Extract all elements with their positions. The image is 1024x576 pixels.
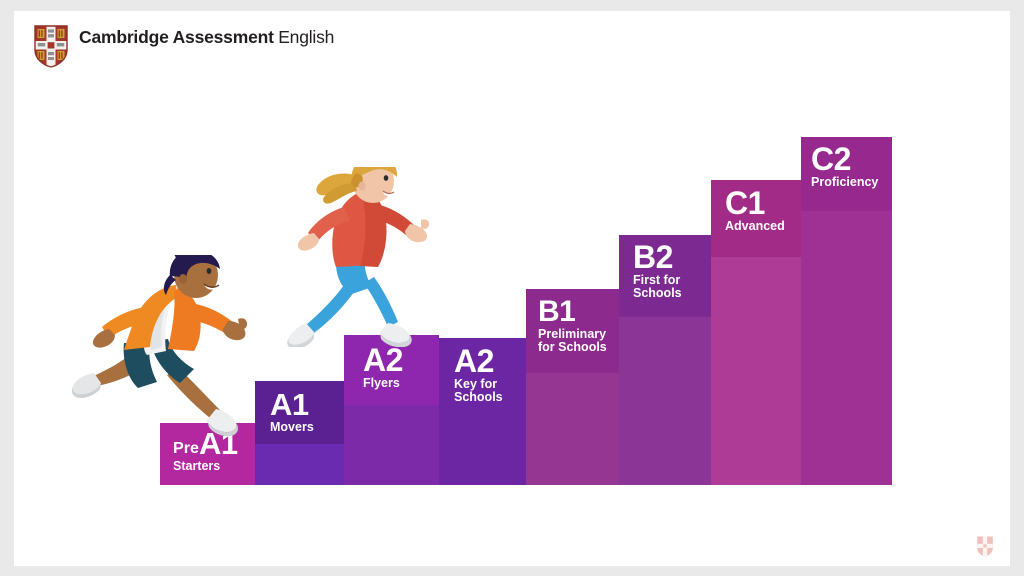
- level-name-c1: Advanced: [725, 220, 801, 233]
- level-code-a2-key: A2: [454, 346, 526, 377]
- level-code-a1: A1: [270, 390, 344, 420]
- slide-canvas: Cambridge Assessment English PreA1 Start…: [14, 11, 1010, 566]
- level-cap-a2-key: A2 Key for Schools: [439, 338, 526, 419]
- running-boy-illustration: [58, 255, 258, 440]
- level-cap-c2: C2 Proficiency: [801, 137, 892, 211]
- cambridge-shield-watermark-icon: [975, 536, 995, 557]
- level-code-b1: B1: [538, 298, 619, 327]
- level-bar-b2[interactable]: B2 First for Schools: [619, 235, 711, 485]
- level-bar-b1[interactable]: B1 Preliminary for Schools: [526, 289, 619, 485]
- level-name-b2: First for Schools: [633, 274, 711, 301]
- level-body-c1: [711, 257, 801, 485]
- level-name-a2-flyers: Flyers: [363, 377, 439, 390]
- level-prefix-pre-a1: Pre: [173, 439, 199, 457]
- level-bar-a2-flyers[interactable]: A2 Flyers: [344, 335, 439, 485]
- level-bar-a2-key[interactable]: A2 Key for Schools: [439, 338, 526, 485]
- level-code-b2: B2: [633, 242, 711, 273]
- level-cap-b2: B2 First for Schools: [619, 235, 711, 317]
- level-name-a1: Movers: [270, 421, 344, 434]
- level-bar-c2[interactable]: C2 Proficiency: [801, 137, 892, 485]
- level-bar-c1[interactable]: C1 Advanced: [711, 180, 801, 485]
- level-name-c2: Proficiency: [811, 176, 892, 189]
- running-girl-illustration: [276, 167, 436, 347]
- level-code-a2-flyers: A2: [363, 345, 439, 376]
- level-body-c2: [801, 211, 892, 485]
- level-code-c2: C2: [811, 144, 892, 175]
- level-name-pre-a1: Starters: [173, 460, 255, 473]
- level-body-a2-key: [439, 419, 526, 485]
- level-bar-a1[interactable]: A1 Movers: [255, 381, 344, 485]
- level-cap-c1: C1 Advanced: [711, 180, 801, 257]
- level-code-c1: C1: [725, 188, 801, 219]
- level-name-a2-key: Key for Schools: [454, 378, 526, 405]
- level-body-a1: [255, 444, 344, 485]
- level-body-b1: [526, 373, 619, 485]
- level-body-b2: [619, 317, 711, 485]
- level-body-a2-flyers: [344, 405, 439, 485]
- level-name-b1: Preliminary for Schools: [538, 328, 619, 355]
- level-cap-a1: A1 Movers: [255, 381, 344, 444]
- level-cap-b1: B1 Preliminary for Schools: [526, 289, 619, 373]
